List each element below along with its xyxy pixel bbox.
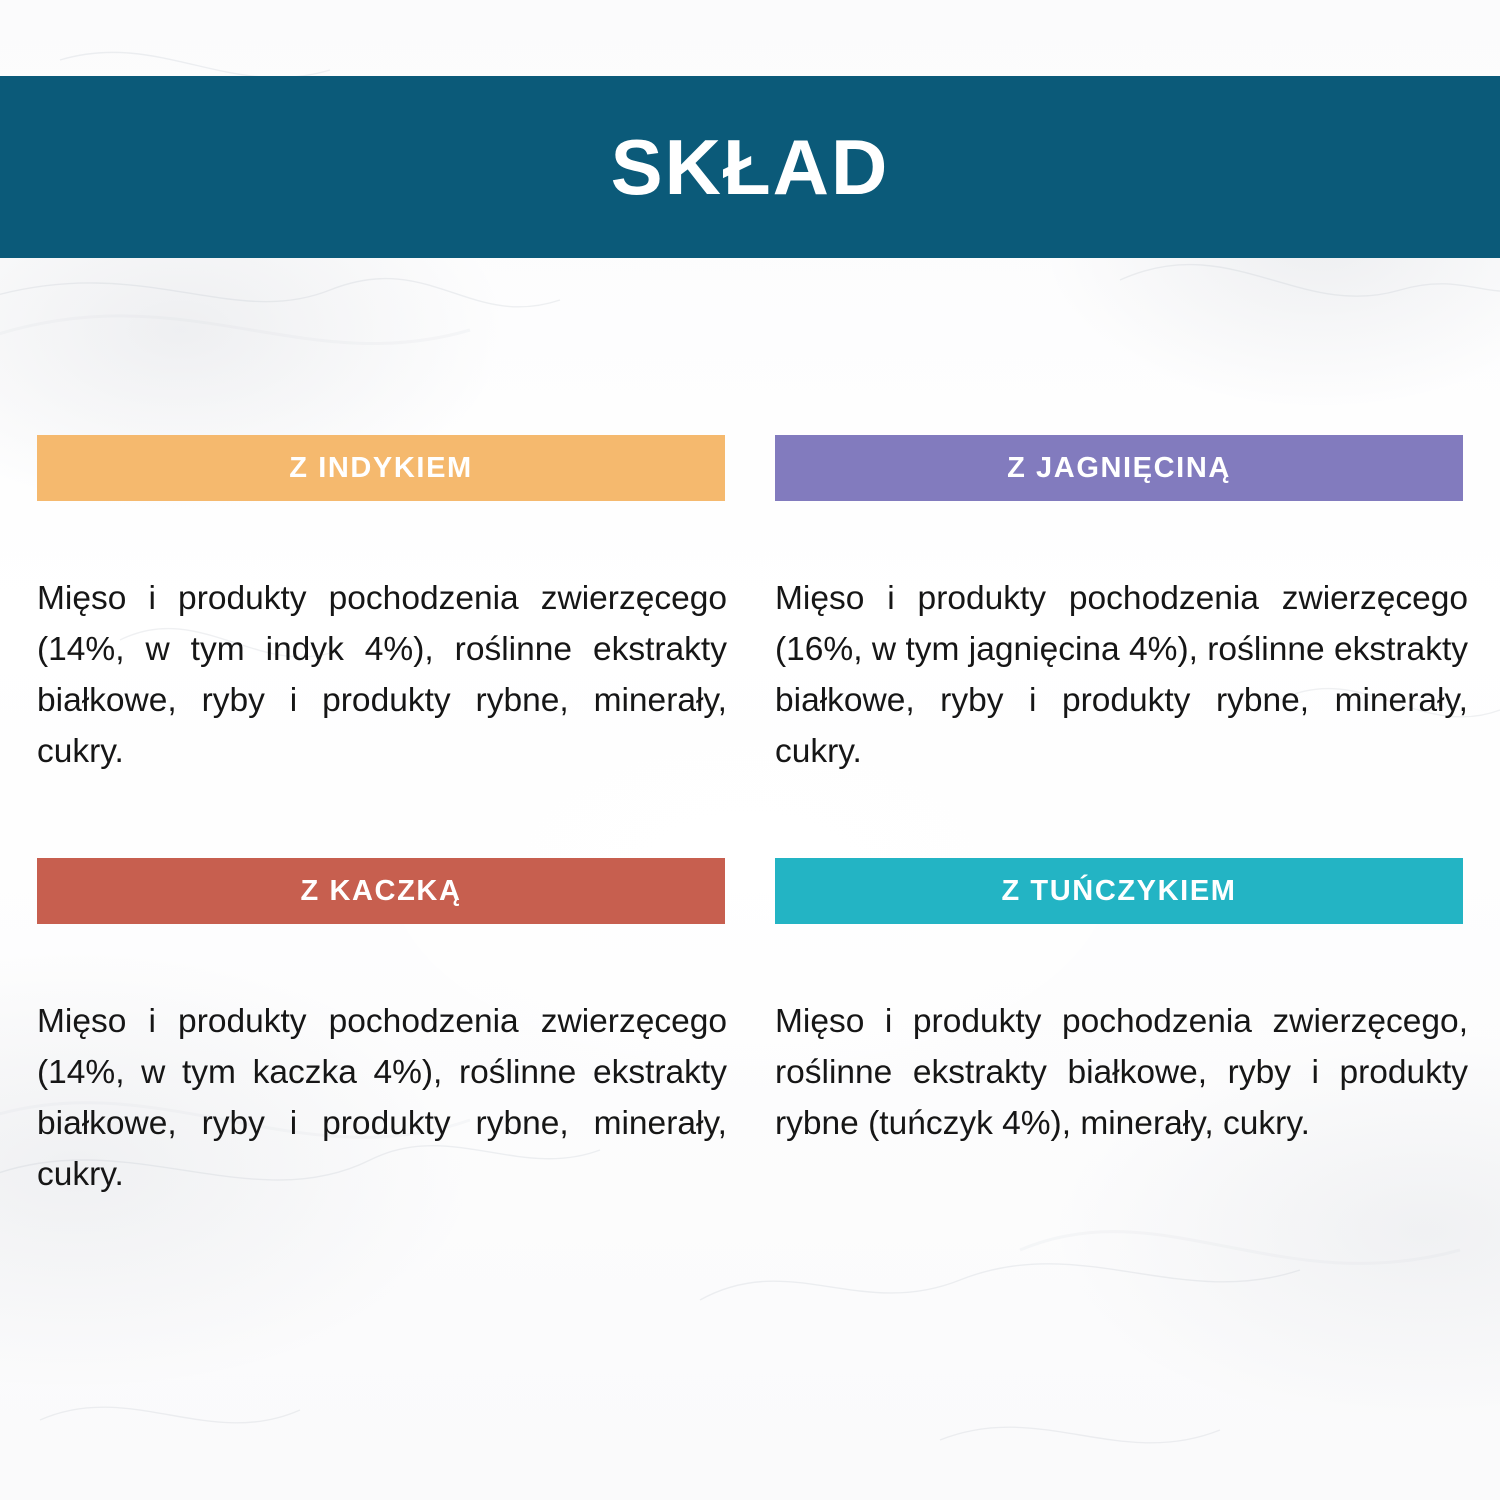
flavour-band-indyk: Z INDYKIEM — [37, 435, 725, 501]
ingredients-text-tunczyk: Mięso i produkty pochodzenia zwierzęcego… — [775, 996, 1468, 1149]
ingredients-text-indyk: Mięso i produkty pochodzenia zwierzęcego… — [37, 573, 727, 777]
flavour-grid: Z INDYKIEM Mięso i produkty pochodzenia … — [0, 0, 1500, 1500]
flavour-band-label-kaczka: Z KACZKĄ — [300, 877, 461, 906]
ingredients-text-kaczka: Mięso i produkty pochodzenia zwierzęcego… — [37, 996, 727, 1200]
flavour-band-tunczyk: Z TUŃCZYKIEM — [775, 858, 1463, 924]
composition-infographic: SKŁAD Z INDYKIEM Mięso i produkty pochod… — [0, 0, 1500, 1500]
flavour-block-jagniecina: Z JAGNIĘCINĄ Mięso i produkty pochodzeni… — [775, 435, 1463, 811]
flavour-band-label-tunczyk: Z TUŃCZYKIEM — [1001, 877, 1236, 906]
flavour-band-kaczka: Z KACZKĄ — [37, 858, 725, 924]
ingredients-text-jagniecina: Mięso i produkty pochodzenia zwierzęcego… — [775, 573, 1468, 777]
flavour-band-jagniecina: Z JAGNIĘCINĄ — [775, 435, 1463, 501]
flavour-block-kaczka: Z KACZKĄ Mięso i produkty pochodzenia zw… — [37, 858, 725, 1234]
flavour-block-indyk: Z INDYKIEM Mięso i produkty pochodzenia … — [37, 435, 725, 811]
flavour-block-tunczyk: Z TUŃCZYKIEM Mięso i produkty pochodzeni… — [775, 858, 1463, 1183]
flavour-band-label-jagniecina: Z JAGNIĘCINĄ — [1007, 454, 1231, 483]
flavour-band-label-indyk: Z INDYKIEM — [289, 454, 473, 483]
